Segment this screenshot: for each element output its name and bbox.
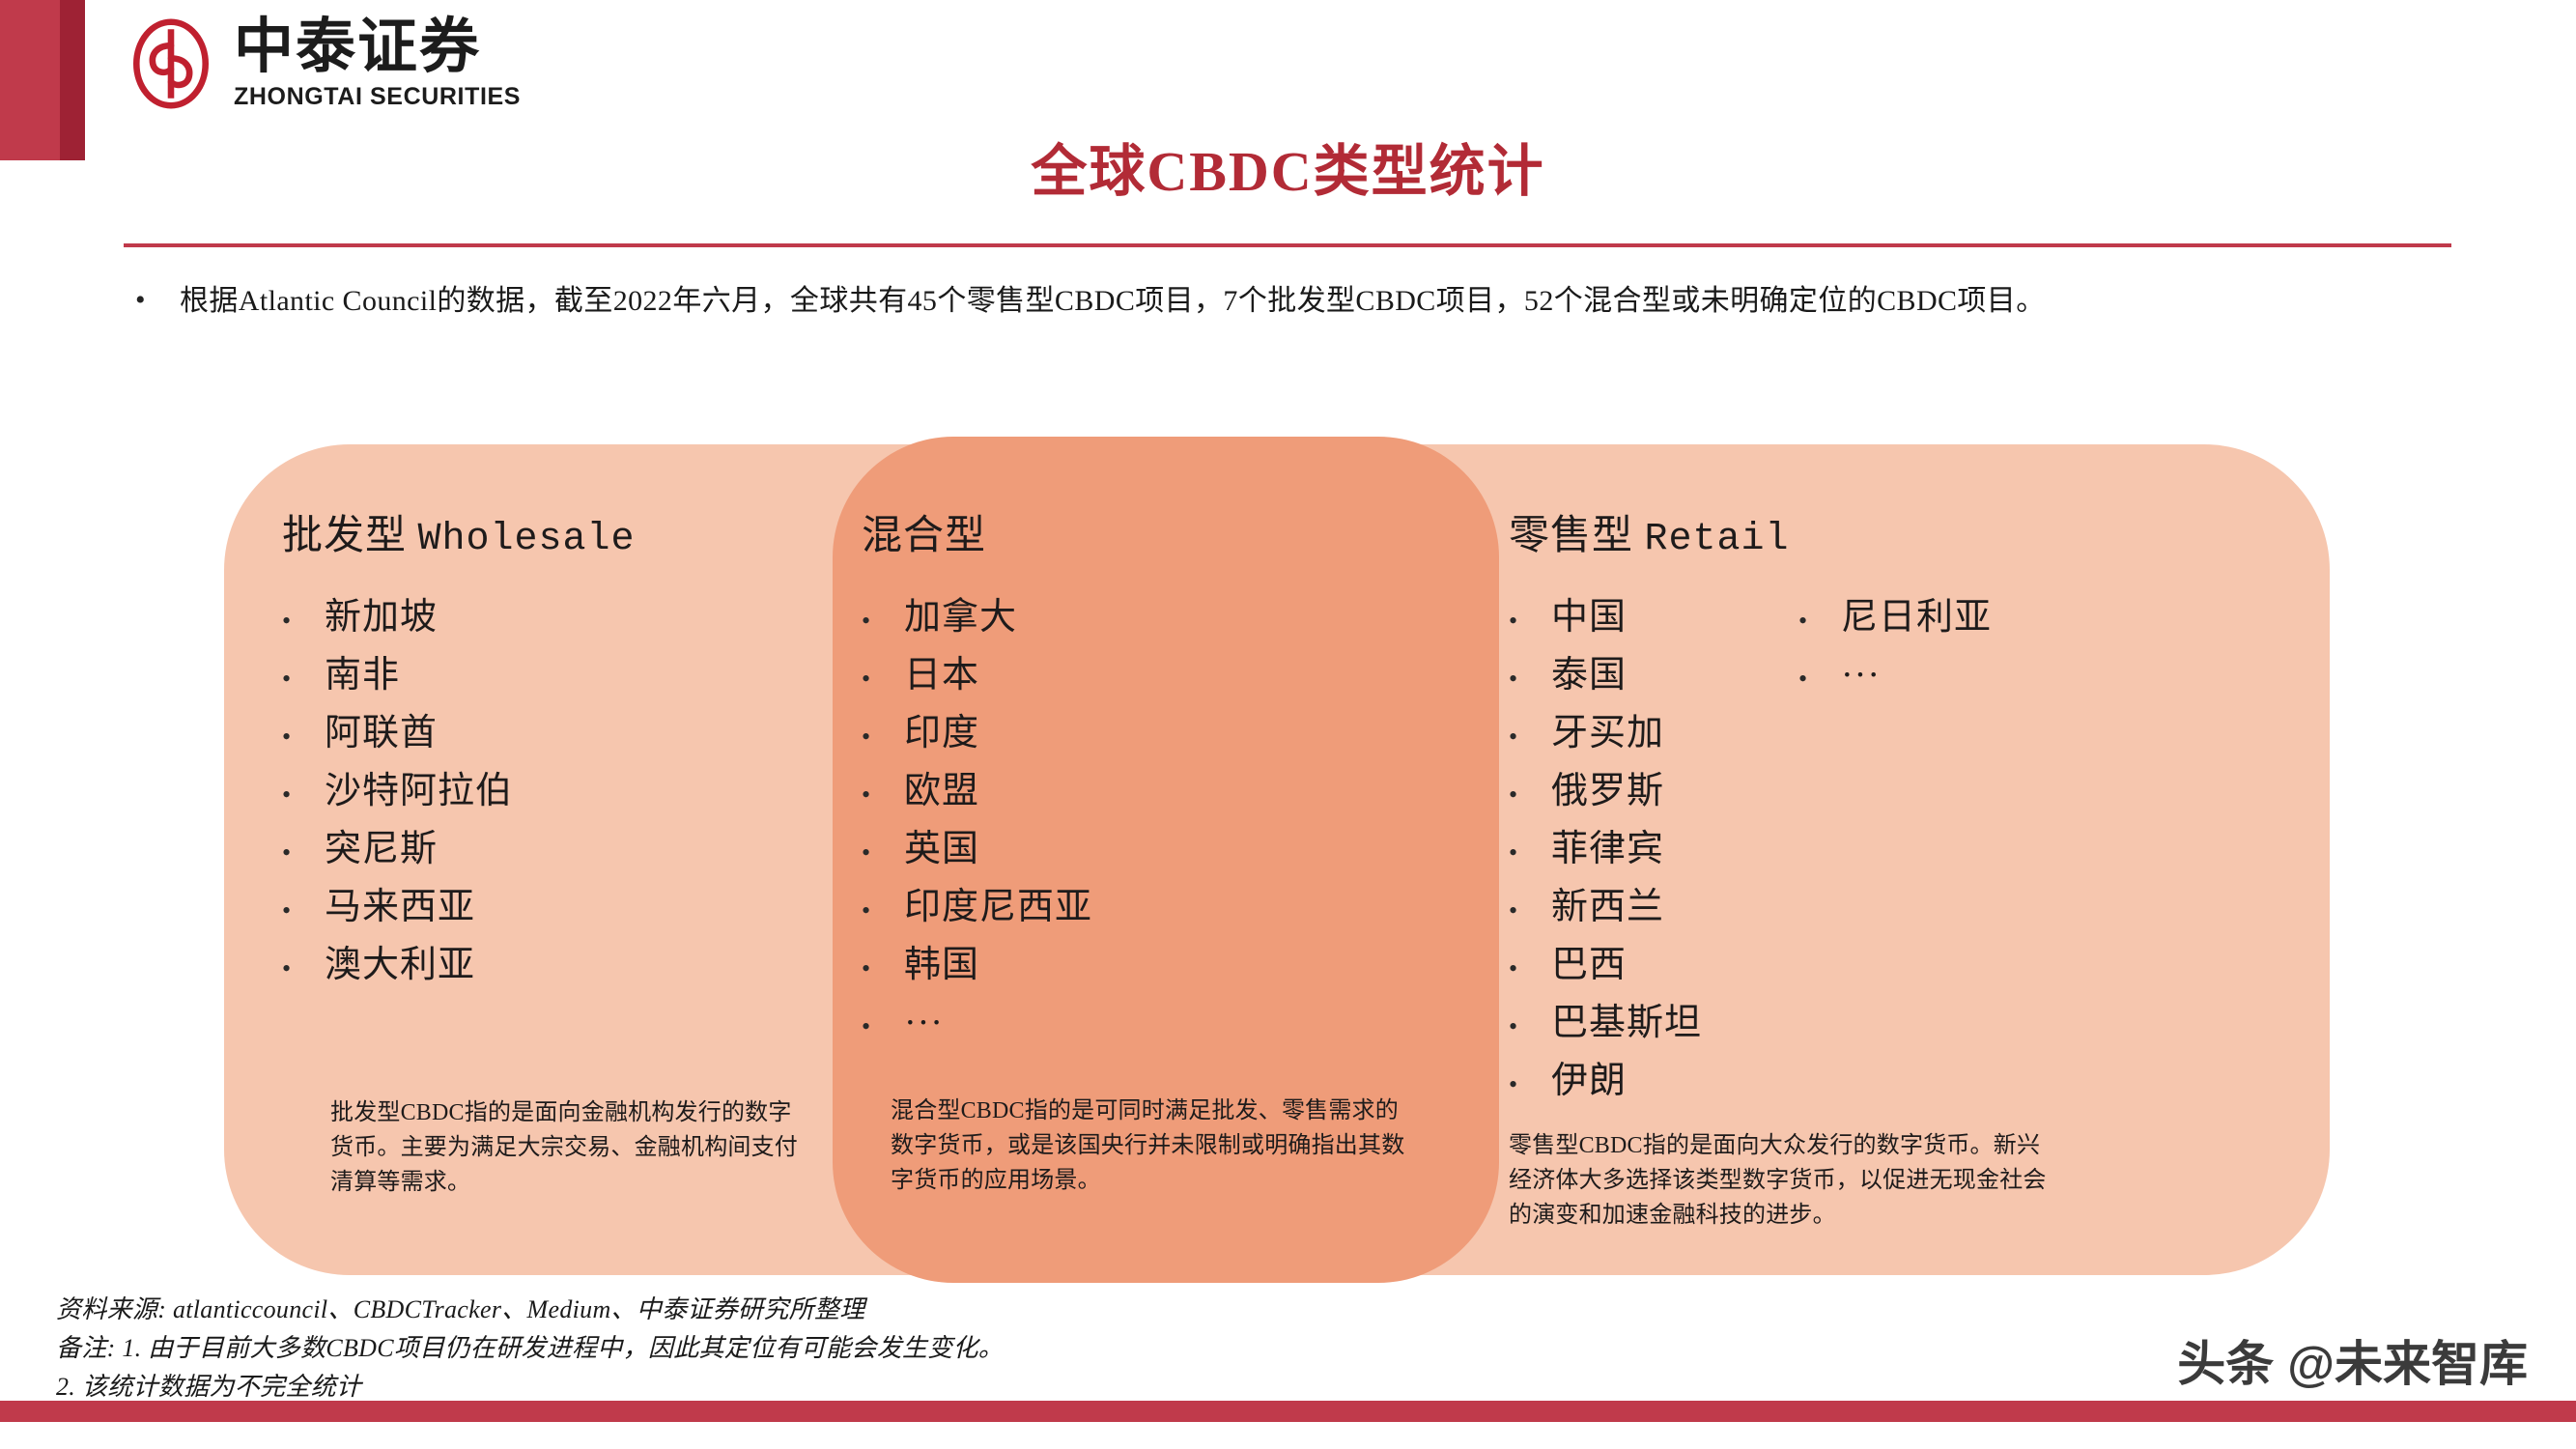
country-name: 英国 (904, 822, 979, 877)
list-item: •南非 (282, 648, 513, 706)
country-name: 俄罗斯 (1551, 764, 1664, 819)
list-item: •加拿大 (862, 590, 1092, 648)
list-item: •牙买加 (1509, 706, 1702, 764)
bullet-icon: • (862, 709, 904, 764)
country-name: 澳大利亚 (325, 938, 475, 993)
country-name: 菲律宾 (1551, 822, 1664, 877)
footer-note-line-1: 备注: 1. 由于目前大多数CBDC项目仍在研发进程中，因此其定位有可能会发生变… (56, 1329, 1004, 1368)
country-name: 马来西亚 (325, 880, 475, 935)
page-title: 全球CBDC类型统计 (0, 126, 2576, 207)
country-name: ··· (904, 996, 944, 1051)
watermark-brand: 头条 (2177, 1325, 2274, 1395)
country-name: 印度 (904, 706, 979, 761)
list-item: •马来西亚 (282, 880, 513, 938)
country-name: 中国 (1551, 590, 1627, 645)
country-list-hybrid: •加拿大 •日本 •印度 •欧盟 •英国 •印度尼西亚 •韩国 •··· (862, 590, 1470, 1054)
list-item: •欧盟 (862, 764, 1092, 822)
brand-name-cn: 中泰证券 (234, 17, 521, 77)
country-list-retail: •中国 •泰国 •牙买加 •俄罗斯 •菲律宾 •新西兰 •巴西 •巴基斯坦 •伊… (1509, 590, 2310, 1112)
country-name: 加拿大 (904, 590, 1017, 645)
country-name: 新加坡 (325, 590, 438, 645)
footer-notes: 资料来源: atlanticcouncil、CBDCTracker、Medium… (56, 1291, 1004, 1406)
list-item: •印度尼西亚 (862, 880, 1092, 938)
bullet-icon: • (1509, 941, 1551, 996)
list-item: •伊朗 (1509, 1054, 1702, 1112)
title-divider (124, 243, 2451, 247)
list-item: •印度 (862, 706, 1092, 764)
country-name: 牙买加 (1551, 706, 1664, 761)
bullet-icon: • (282, 593, 325, 648)
zhongtai-circular-logo-icon (126, 18, 216, 109)
bullet-icon: • (1509, 1057, 1551, 1112)
column-header-cn: 批发型 (282, 514, 407, 558)
country-name: 新西兰 (1551, 880, 1664, 935)
country-sublist: •尼日利亚 •··· (1798, 590, 1992, 1112)
list-item: •突尼斯 (282, 822, 513, 880)
list-item: •尼日利亚 (1798, 590, 1992, 648)
country-name: 南非 (325, 648, 400, 703)
country-name: 沙特阿拉伯 (325, 764, 513, 819)
bullet-icon: • (862, 651, 904, 706)
list-item: •··· (862, 996, 1092, 1054)
column-hybrid: 混合型 •加拿大 •日本 •印度 •欧盟 •英国 •印度尼西亚 •韩国 •···… (862, 444, 1470, 1275)
bullet-icon: • (1509, 593, 1551, 648)
bottom-accent-bar (0, 1401, 2576, 1422)
country-name: 巴西 (1551, 938, 1627, 993)
bullet-icon: • (1798, 593, 1841, 648)
country-sublist: •加拿大 •日本 •印度 •欧盟 •英国 •印度尼西亚 •韩国 •··· (862, 590, 1092, 1054)
brand-logo: 中泰证券 ZHONGTAI SECURITIES (126, 17, 521, 109)
bullet-icon: • (1509, 651, 1551, 706)
intro-text: 根据Atlantic Council的数据，截至2022年六月，全球共有45个零… (180, 278, 2473, 325)
list-item: •中国 (1509, 590, 1702, 648)
country-name: 尼日利亚 (1841, 590, 1992, 645)
list-item: •俄罗斯 (1509, 764, 1702, 822)
intro-bullet-row: • 根据Atlantic Council的数据，截至2022年六月，全球共有45… (135, 278, 2473, 325)
list-item: •泰国 (1509, 648, 1702, 706)
bullet-icon: • (1509, 767, 1551, 822)
bullet-icon: • (135, 278, 180, 323)
list-item: •新加坡 (282, 590, 513, 648)
column-wholesale: 批发型 Wholesale •新加坡 •南非 •阿联酋 •沙特阿拉伯 •突尼斯 … (282, 444, 833, 1275)
column-header-en: Retail (1645, 518, 1790, 561)
watermark: 头条 @未来智库 (2177, 1325, 2528, 1395)
bullet-icon: • (282, 651, 325, 706)
country-sublist: •新加坡 •南非 •阿联酋 •沙特阿拉伯 •突尼斯 •马来西亚 •澳大利亚 (282, 590, 513, 996)
column-header-hybrid: 混合型 (862, 444, 1470, 561)
country-list-wholesale: •新加坡 •南非 •阿联酋 •沙特阿拉伯 •突尼斯 •马来西亚 •澳大利亚 (282, 590, 833, 996)
column-caption-hybrid: 混合型CBDC指的是可同时满足批发、零售需求的数字货币，或是该国央行并未限制或明… (891, 1094, 1412, 1198)
bullet-icon: • (862, 593, 904, 648)
cbdc-type-diagram: 批发型 Wholesale •新加坡 •南非 •阿联酋 •沙特阿拉伯 •突尼斯 … (224, 444, 2330, 1275)
list-item: •澳大利亚 (282, 938, 513, 996)
country-sublist: •中国 •泰国 •牙买加 •俄罗斯 •菲律宾 •新西兰 •巴西 •巴基斯坦 •伊… (1509, 590, 1702, 1112)
footer-source-line: 资料来源: atlanticcouncil、CBDCTracker、Medium… (56, 1291, 1004, 1329)
country-name: 泰国 (1551, 648, 1627, 703)
list-item: •··· (1798, 648, 1992, 706)
bullet-icon: • (862, 883, 904, 938)
list-item: •巴基斯坦 (1509, 996, 1702, 1054)
column-header-retail: 零售型 Retail (1509, 444, 2310, 561)
country-name: 阿联酋 (325, 706, 438, 761)
column-caption-retail: 零售型CBDC指的是面向大众发行的数字货币。新兴经济体大多选择该类型数字货币，以… (1509, 1128, 2050, 1233)
list-item: •新西兰 (1509, 880, 1702, 938)
bullet-icon: • (1509, 999, 1551, 1054)
bullet-icon: • (862, 999, 904, 1054)
list-item: •英国 (862, 822, 1092, 880)
country-name: 伊朗 (1551, 1054, 1627, 1109)
bullet-icon: • (282, 825, 325, 880)
brand-name-en: ZHONGTAI SECURITIES (234, 85, 521, 109)
country-name: 韩国 (904, 938, 979, 993)
column-header-en: Wholesale (418, 518, 636, 561)
list-item: •阿联酋 (282, 706, 513, 764)
list-item: •菲律宾 (1509, 822, 1702, 880)
list-item: •韩国 (862, 938, 1092, 996)
list-item: •巴西 (1509, 938, 1702, 996)
bullet-icon: • (862, 825, 904, 880)
bullet-icon: • (1798, 651, 1841, 706)
column-header-wholesale: 批发型 Wholesale (282, 444, 833, 561)
bullet-icon: • (282, 709, 325, 764)
column-retail: 零售型 Retail •中国 •泰国 •牙买加 •俄罗斯 •菲律宾 •新西兰 •… (1509, 444, 2310, 1275)
country-name: 日本 (904, 648, 979, 703)
country-name: 巴基斯坦 (1551, 996, 1702, 1051)
column-header-cn: 混合型 (862, 514, 986, 558)
watermark-handle: @未来智库 (2287, 1325, 2528, 1395)
list-item: •日本 (862, 648, 1092, 706)
bullet-icon: • (862, 767, 904, 822)
bullet-icon: • (1509, 825, 1551, 880)
list-item: •沙特阿拉伯 (282, 764, 513, 822)
bullet-icon: • (282, 767, 325, 822)
bullet-icon: • (1509, 883, 1551, 938)
column-header-cn: 零售型 (1509, 514, 1633, 558)
country-name: 突尼斯 (325, 822, 438, 877)
bullet-icon: • (282, 941, 325, 996)
brand-wordmark: 中泰证券 ZHONGTAI SECURITIES (234, 17, 521, 109)
bullet-icon: • (862, 941, 904, 996)
bullet-icon: • (1509, 709, 1551, 764)
column-caption-wholesale: 批发型CBDC指的是面向金融机构发行的数字货币。主要为满足大宗交易、金融机构间支… (330, 1095, 813, 1200)
country-name: 印度尼西亚 (904, 880, 1092, 935)
bullet-icon: • (282, 883, 325, 938)
country-name: 欧盟 (904, 764, 979, 819)
country-name: ··· (1841, 648, 1881, 703)
